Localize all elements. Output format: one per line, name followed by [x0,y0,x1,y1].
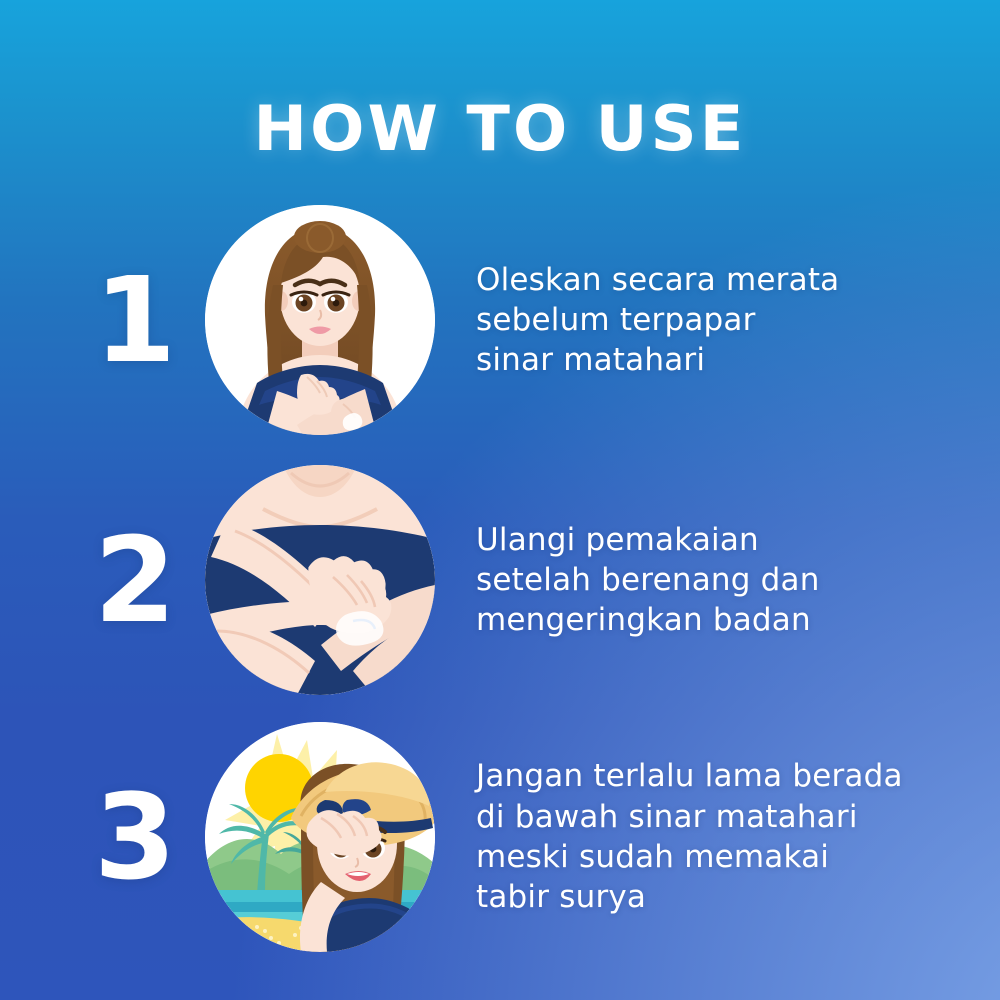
step3-line-4: tabir surya [476,877,996,917]
arms-applying-cream-illustration [205,465,435,695]
step3-line-2: di bawah sinar matahari [476,797,996,837]
step-number-1: 1 [70,195,200,445]
step-row-3: 3 [0,712,1000,962]
poster-canvas: HOW TO USE 1 [0,0,1000,1000]
step-number-3: 3 [70,712,200,962]
step1-line-3: sinar matahari [476,340,996,380]
step-illustration-1 [205,205,435,435]
woman-portrait-illustration [205,205,435,435]
step-description-1: Oleskan secara merata sebelum terpapar s… [476,195,996,445]
step-number-2: 2 [70,455,200,705]
step2-line-2: setelah berenang dan [476,560,996,600]
beach-woman-hat-illustration [205,722,435,952]
step1-line-1: Oleskan secara merata [476,260,996,300]
step2-line-1: Ulangi pemakaian [476,520,996,560]
step-illustration-3 [205,722,435,952]
page-title: HOW TO USE [0,92,1000,165]
step-row-1: 1 [0,195,1000,445]
step-row-2: 2 [0,455,1000,705]
step-description-2: Ulangi pemakaian setelah berenang dan me… [476,455,996,705]
step-illustration-2 [205,465,435,695]
step3-line-3: meski sudah memakai [476,837,996,877]
step1-line-2: sebelum terpapar [476,300,996,340]
step3-line-1: Jangan terlalu lama berada [476,756,996,796]
step2-line-3: mengeringkan badan [476,600,996,640]
step-description-3: Jangan terlalu lama berada di bawah sina… [476,712,996,962]
